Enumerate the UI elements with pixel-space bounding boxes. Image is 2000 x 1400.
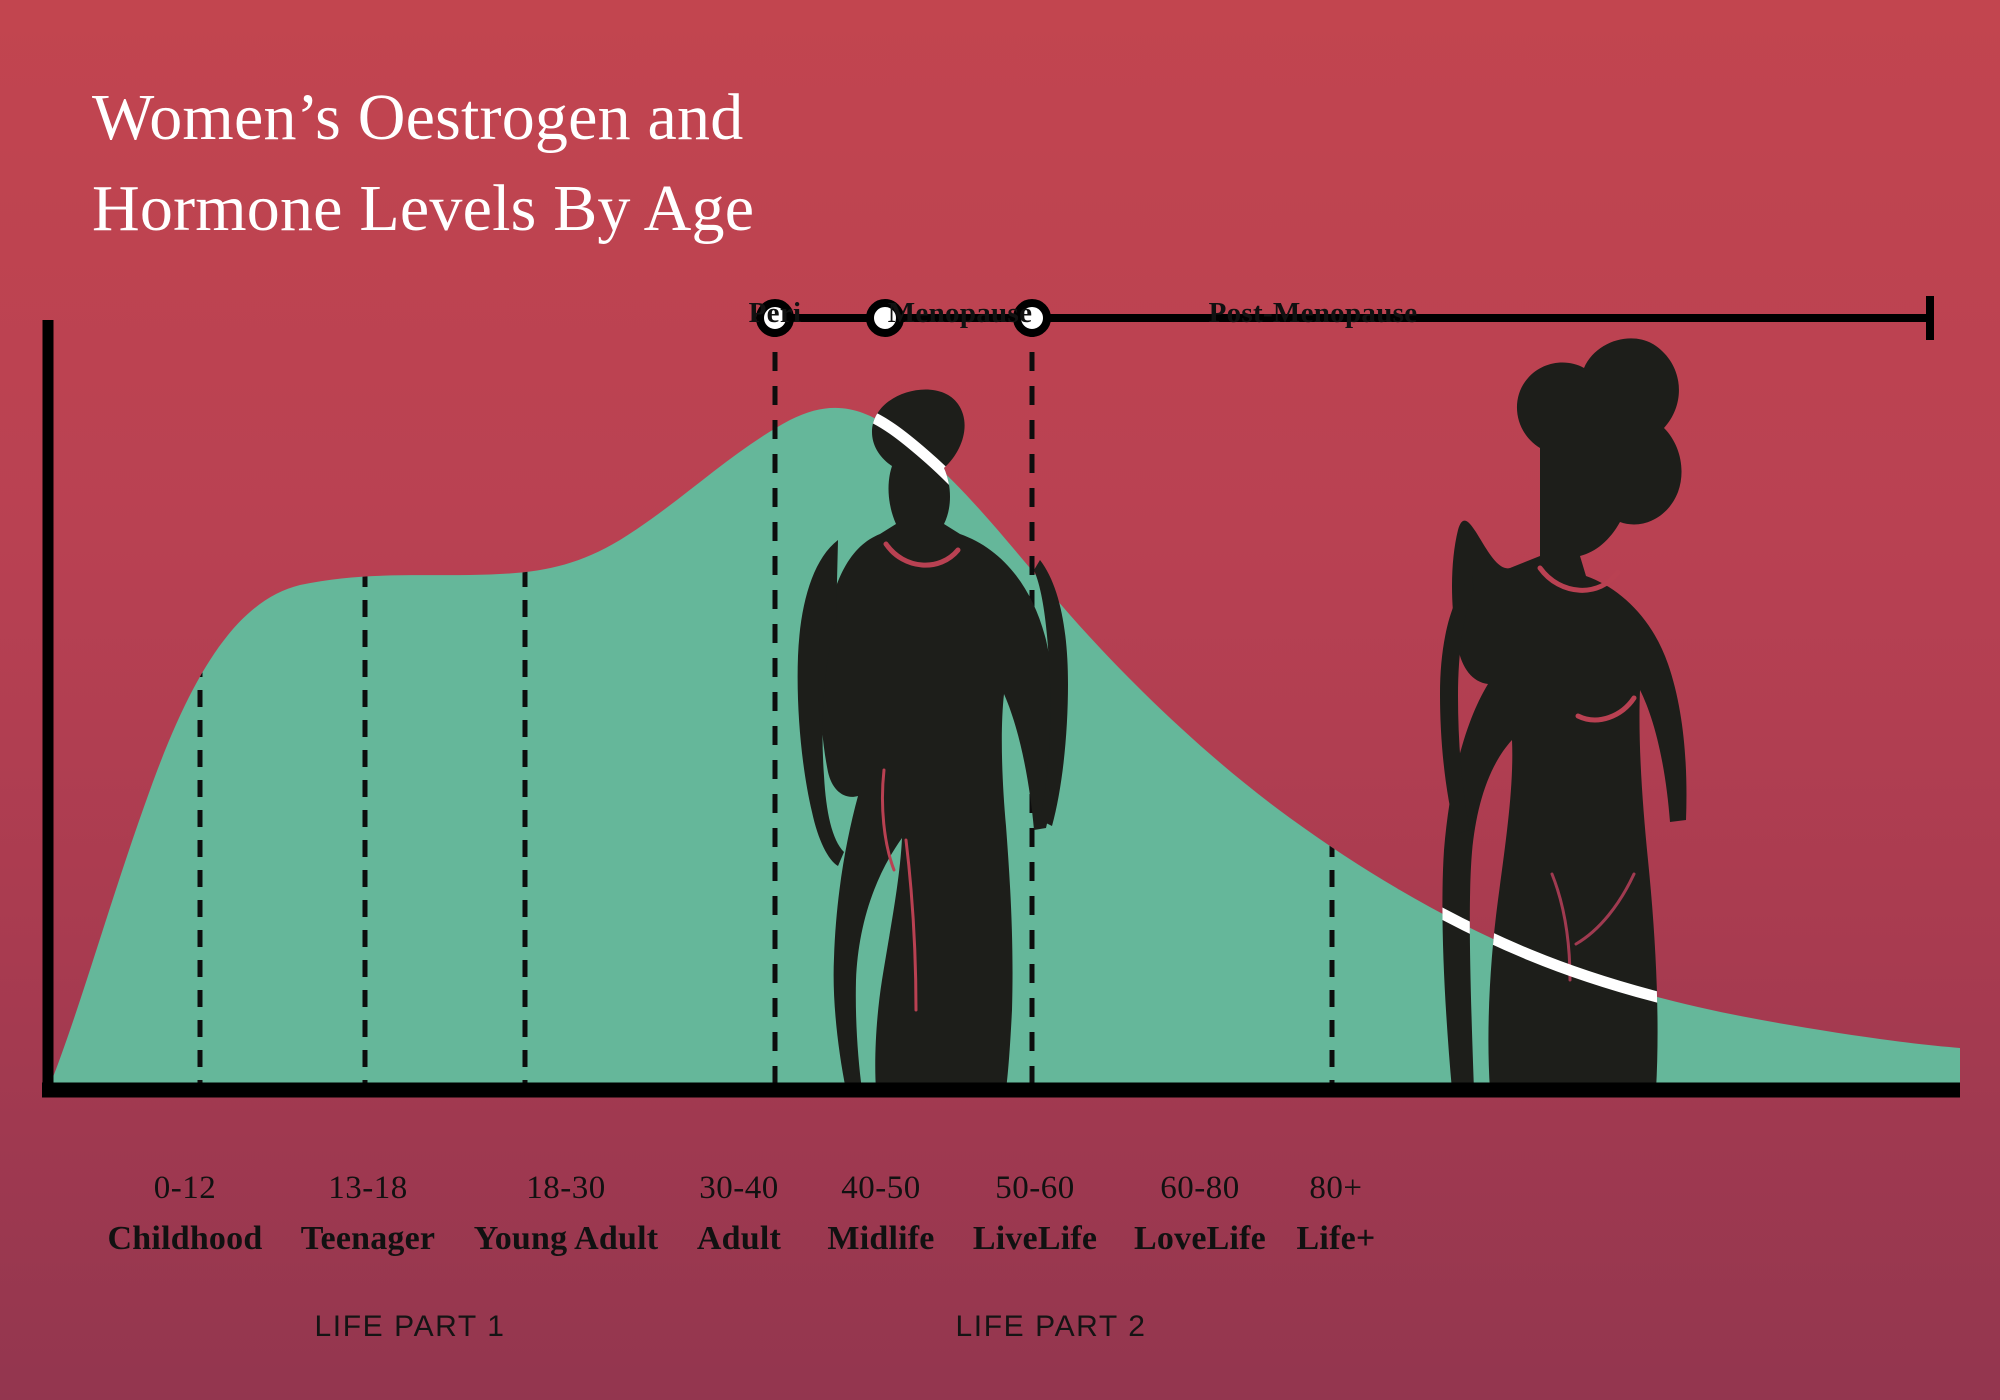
marker-label-peri: Peri — [749, 297, 802, 330]
age-group-livelife: 50-60 LiveLife — [973, 1172, 1097, 1256]
age-stage-name: Young Adult — [474, 1222, 659, 1256]
age-range: 60-80 — [1134, 1172, 1266, 1205]
marker-label-menopause-text: Menopause — [888, 297, 1033, 329]
age-stage-name: LiveLife — [973, 1222, 1097, 1256]
age-stage-name: Adult — [697, 1222, 781, 1256]
page-title: Women’s Oestrogen and Hormone Levels By … — [92, 72, 1192, 254]
age-group-life-plus: 80+ Life+ — [1297, 1172, 1376, 1256]
age-stage-name: Midlife — [827, 1222, 934, 1256]
age-group-young-adult: 18-30 Young Adult — [474, 1172, 659, 1256]
age-stage-name: Teenager — [301, 1222, 435, 1256]
age-range: 0-12 — [108, 1172, 263, 1205]
age-group-adult: 30-40 Adult — [697, 1172, 781, 1256]
marker-label-peri-text: Peri — [749, 297, 802, 329]
age-group-teenager: 13-18 Teenager — [301, 1172, 435, 1256]
marker-label-post-menopause-text: Post-Menopause — [1209, 297, 1418, 329]
age-range: 50-60 — [973, 1172, 1097, 1205]
infographic-canvas: Women’s Oestrogen and Hormone Levels By … — [0, 0, 2000, 1400]
marker-label-post-menopause: Post-Menopause — [1209, 297, 1418, 330]
life-part-2-label: LIFE PART 2 — [955, 1310, 1146, 1344]
age-group-childhood: 0-12 Childhood — [108, 1172, 263, 1256]
age-stage-name: Childhood — [108, 1222, 263, 1256]
age-range: 13-18 — [301, 1172, 435, 1205]
age-stage-name: LoveLife — [1134, 1222, 1266, 1256]
marker-label-menopause: Menopause — [888, 297, 1033, 330]
age-range: 18-30 — [474, 1172, 659, 1205]
age-range: 40-50 — [827, 1172, 934, 1205]
age-range: 80+ — [1297, 1172, 1376, 1205]
age-range: 30-40 — [697, 1172, 781, 1205]
life-part-1-label: LIFE PART 1 — [314, 1310, 505, 1344]
age-group-lovelife: 60-80 LoveLife — [1134, 1172, 1266, 1256]
age-stage-name: Life+ — [1297, 1222, 1376, 1256]
age-group-midlife: 40-50 Midlife — [827, 1172, 934, 1256]
